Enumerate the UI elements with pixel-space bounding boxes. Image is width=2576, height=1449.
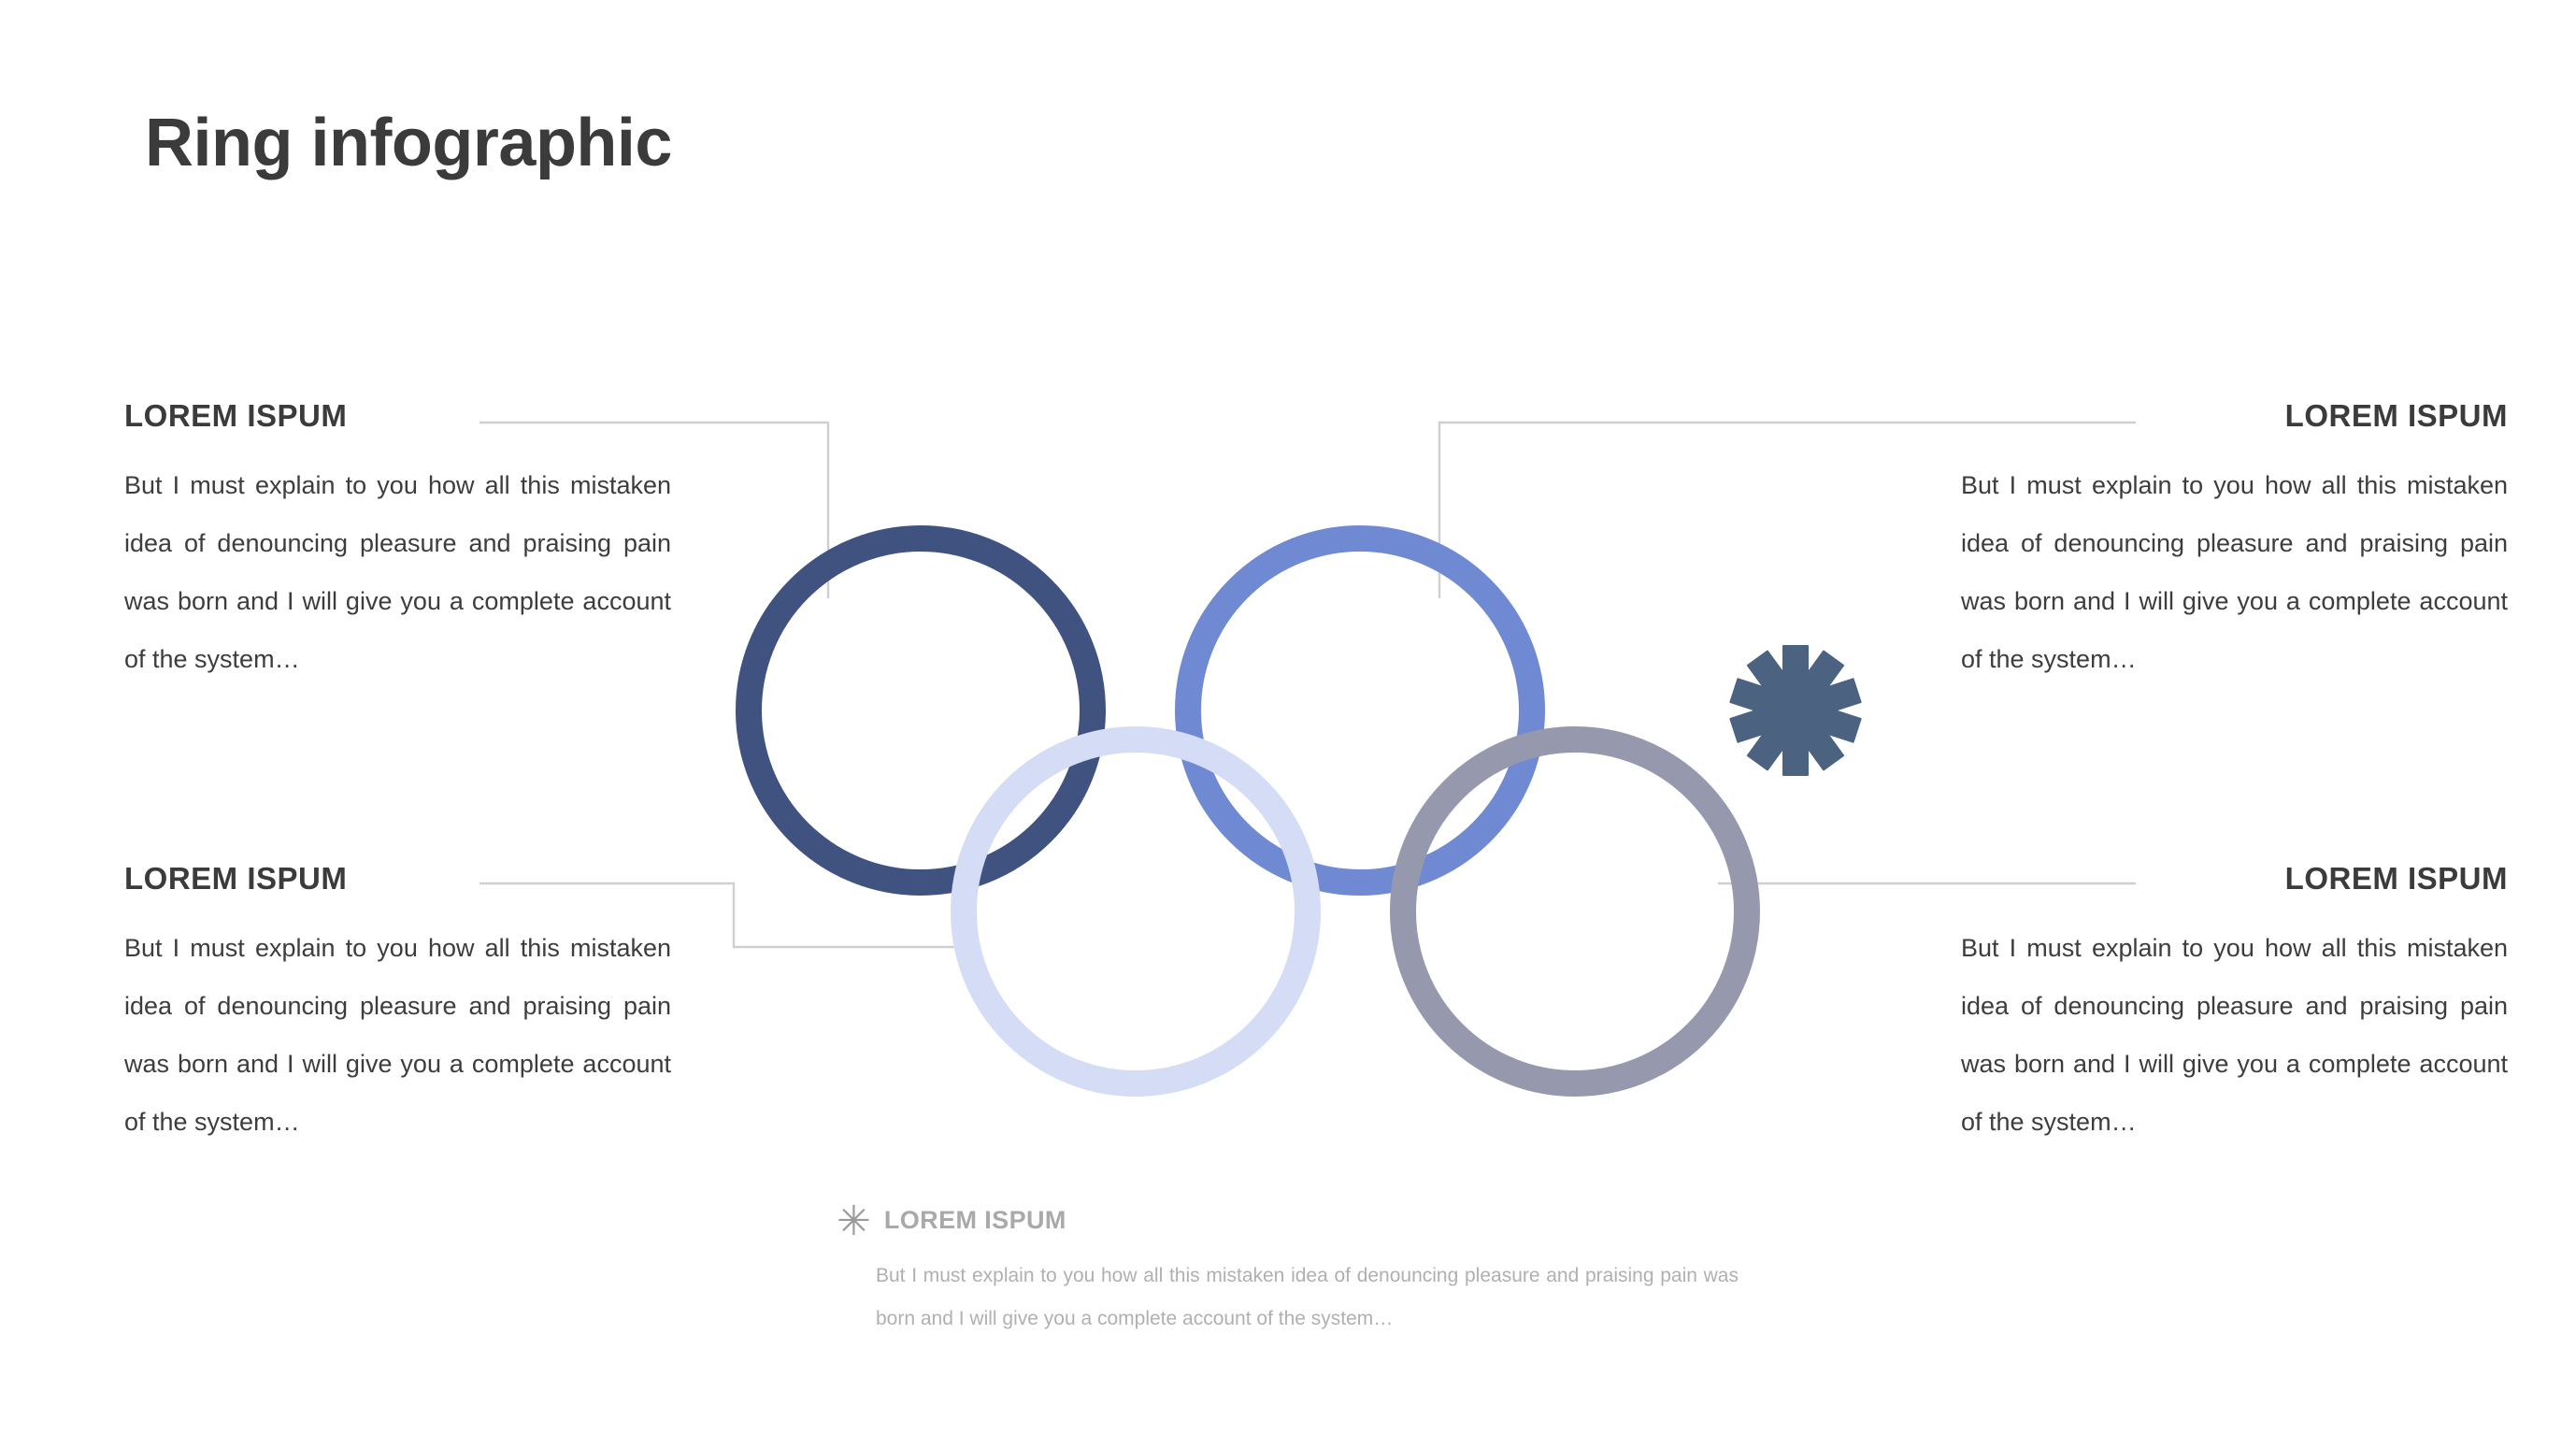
asterisk-marker-icon: ✳	[837, 1206, 871, 1238]
info-block-heading: LOREM ISPUM	[1961, 863, 2508, 894]
info-block-heading: LOREM ISPUM	[124, 400, 671, 431]
info-block-top-left: LOREM ISPUM But I must explain to you ho…	[124, 400, 671, 688]
info-block-bottom-left: LOREM ISPUM But I must explain to you ho…	[124, 863, 671, 1151]
info-block-heading: LOREM ISPUM	[124, 863, 671, 894]
info-block-bottom-right: LOREM ISPUM But I must explain to you ho…	[1961, 863, 2508, 1151]
ring-light	[964, 739, 1308, 1083]
footnote: ✳ LOREM ISPUM But I must explain to you …	[837, 1204, 1739, 1341]
ring-gray	[1403, 739, 1747, 1083]
info-block-body: But I must explain to you how all this m…	[124, 456, 671, 688]
footnote-body: But I must explain to you how all this m…	[876, 1255, 1739, 1341]
info-block-body: But I must explain to you how all this m…	[124, 919, 671, 1151]
asterisk-icon	[1729, 645, 1862, 776]
footnote-heading-row: ✳ LOREM ISPUM	[837, 1204, 1739, 1236]
info-block-heading: LOREM ISPUM	[1961, 400, 2508, 431]
ring-navy	[749, 538, 1093, 882]
footnote-heading: LOREM ISPUM	[884, 1204, 1066, 1236]
info-block-body: But I must explain to you how all this m…	[1961, 456, 2508, 688]
ring-blue	[1188, 538, 1532, 882]
slide-canvas: Ring infographic	[0, 0, 2576, 1449]
info-block-top-right: LOREM ISPUM But I must explain to you ho…	[1961, 400, 2508, 688]
info-block-body: But I must explain to you how all this m…	[1961, 919, 2508, 1151]
